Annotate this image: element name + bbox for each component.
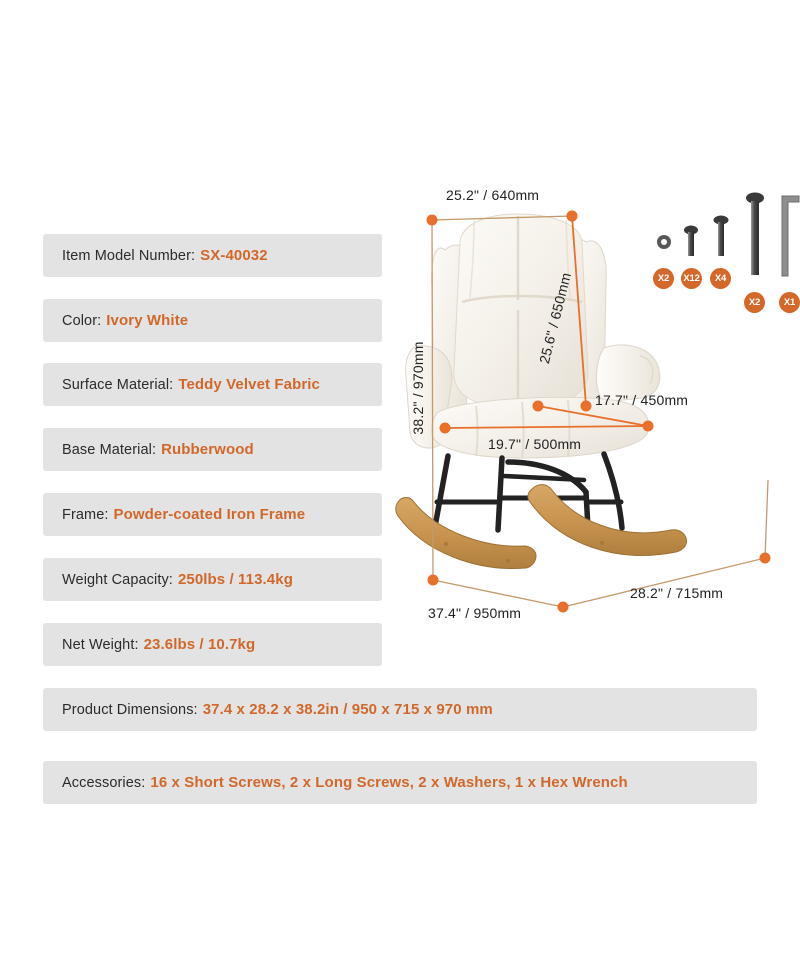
dimension-overall-depth: 28.2" / 715mm [630,585,723,601]
dimension-rocker-length: 37.4" / 950mm [428,605,521,621]
hardware-badge-short-screw: X12 [681,268,702,289]
hardware-badge-washer: X2 [653,268,674,289]
chair-illustration [390,180,800,640]
spec-value: Rubberwood [161,441,254,458]
dimension-seat-depth: 17.7" / 450mm [595,392,688,408]
hardware-badge-long-screw: X2 [744,292,765,313]
spec-label: Surface Material: [62,377,173,393]
spec-value: Teddy Velvet Fabric [178,376,320,393]
spec-value: 23.6lbs / 10.7kg [144,636,256,653]
spec-label: Item Model Number: [62,248,195,264]
spec-row-surface-material: Surface Material: Teddy Velvet Fabric [43,363,382,406]
dimension-overall-height: 38.2" / 970mm [410,318,426,458]
spec-value: 250lbs / 113.4kg [178,571,293,588]
short-screw-icon [684,226,698,257]
spec-value: SX-40032 [200,247,268,264]
spec-label: Net Weight: [62,637,139,653]
spec-label: Color: [62,313,101,329]
spec-row-product-dimensions: Product Dimensions: 37.4 x 28.2 x 38.2in… [43,688,757,731]
spec-label: Weight Capacity: [62,572,173,588]
hardware-badge-hex-wrench: X1 [779,292,800,313]
spec-row-color: Color: Ivory White [43,299,382,342]
spec-row-base-material: Base Material: Rubberwood [43,428,382,471]
spec-value: Powder-coated Iron Frame [114,506,306,523]
spec-row-weight-capacity: Weight Capacity: 250lbs / 113.4kg [43,558,382,601]
product-spec-sheet: Item Model Number: SX-40032 Color: Ivory… [0,0,800,977]
spec-value: 37.4 x 28.2 x 38.2in / 950 x 715 x 970 m… [203,701,493,718]
medium-screw-icon [714,216,729,257]
dimension-seat-width: 19.7" / 500mm [488,436,581,452]
hardware-badge-medium-screw: X4 [710,268,731,289]
spec-value: Ivory White [106,312,188,329]
hex-wrench-icon [782,196,799,276]
dimension-top-width: 25.2" / 640mm [446,187,539,203]
spec-row-accessories: Accessories: 16 x Short Screws, 2 x Long… [43,761,757,804]
washer-icon [657,235,671,249]
spec-row-net-weight: Net Weight: 23.6lbs / 10.7kg [43,623,382,666]
spec-label: Frame: [62,507,109,523]
spec-row-frame: Frame: Powder-coated Iron Frame [43,493,382,536]
product-dimension-diagram: 25.2" / 640mm 38.2" / 970mm 25.6" / 650m… [390,180,800,640]
spec-row-item-model-number: Item Model Number: SX-40032 [43,234,382,277]
spec-label: Accessories: [62,775,145,791]
spec-label: Base Material: [62,442,156,458]
spec-label: Product Dimensions: [62,702,198,718]
spec-value: 16 x Short Screws, 2 x Long Screws, 2 x … [150,774,627,791]
long-screw-icon [746,193,764,276]
